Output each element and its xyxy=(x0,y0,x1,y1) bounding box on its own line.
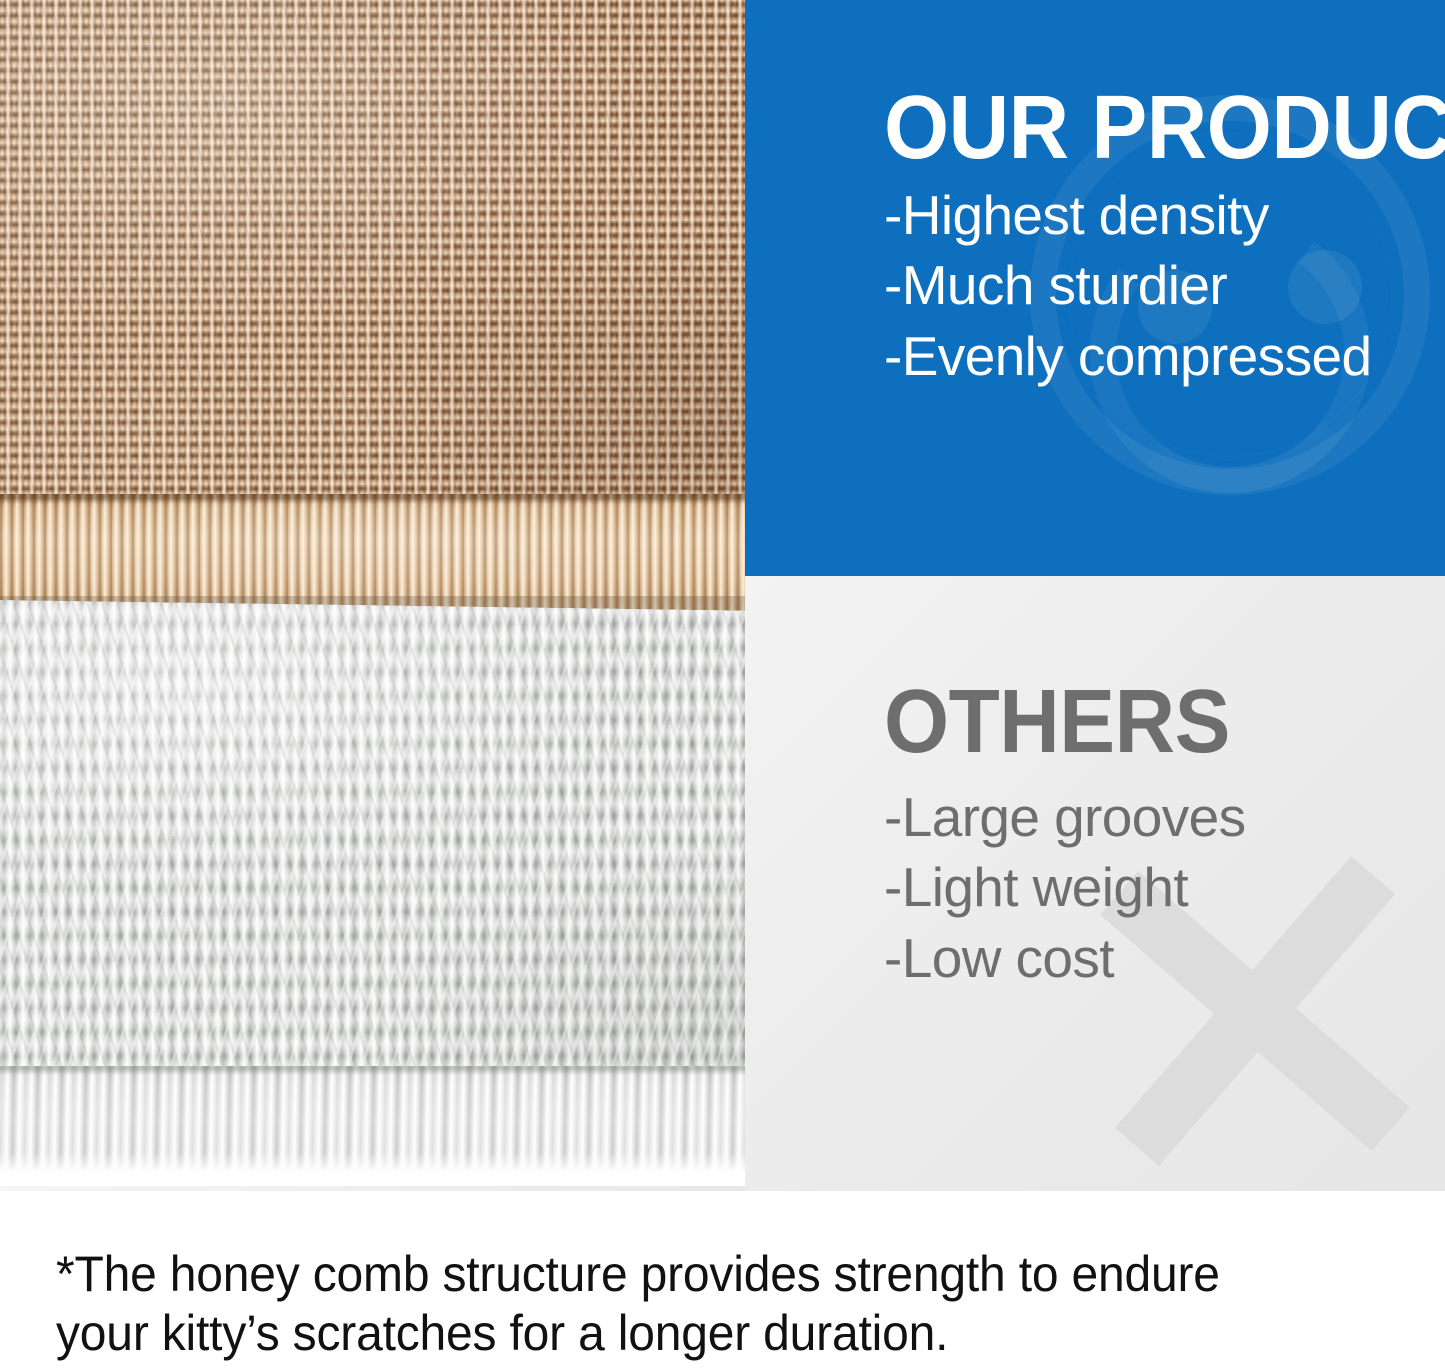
caption-strip: *The honey comb structure provides stren… xyxy=(0,1191,1445,1369)
tan-honeycomb-cardboard-board xyxy=(0,0,852,614)
our-product-bullet-1: -Highest density xyxy=(884,180,1424,250)
tan-board-top-face xyxy=(0,0,852,506)
footnote-line-2: your kitty’s scratches for a longer dura… xyxy=(56,1304,1352,1363)
others-heading: OTHERS xyxy=(884,686,1386,760)
our-product-text-block: OUR PRODUCT -Highest density -Much sturd… xyxy=(884,92,1424,391)
footnote-caption: *The honey comb structure provides stren… xyxy=(56,1245,1352,1363)
infographic-stage: OUR PRODUCT -Highest density -Much sturd… xyxy=(0,0,1445,1369)
others-bullet-3: -Low cost xyxy=(884,923,1424,993)
our-product-bullet-3: -Evenly compressed xyxy=(884,321,1424,391)
our-product-bullet-list: -Highest density -Much sturdier -Evenly … xyxy=(884,180,1424,391)
others-bullet-2: -Light weight xyxy=(884,852,1424,922)
our-product-heading: OUR PRODUCT xyxy=(884,92,1386,166)
our-product-bullet-2: -Much sturdier xyxy=(884,250,1424,320)
footnote-line-1: *The honey comb structure provides stren… xyxy=(56,1245,1352,1304)
tan-board-side-edge xyxy=(0,494,852,612)
others-bullet-1: -Large grooves xyxy=(884,782,1424,852)
others-bullet-list: -Large grooves -Light weight -Low cost xyxy=(884,782,1424,993)
others-text-block: OTHERS -Large grooves -Light weight -Low… xyxy=(884,686,1424,993)
